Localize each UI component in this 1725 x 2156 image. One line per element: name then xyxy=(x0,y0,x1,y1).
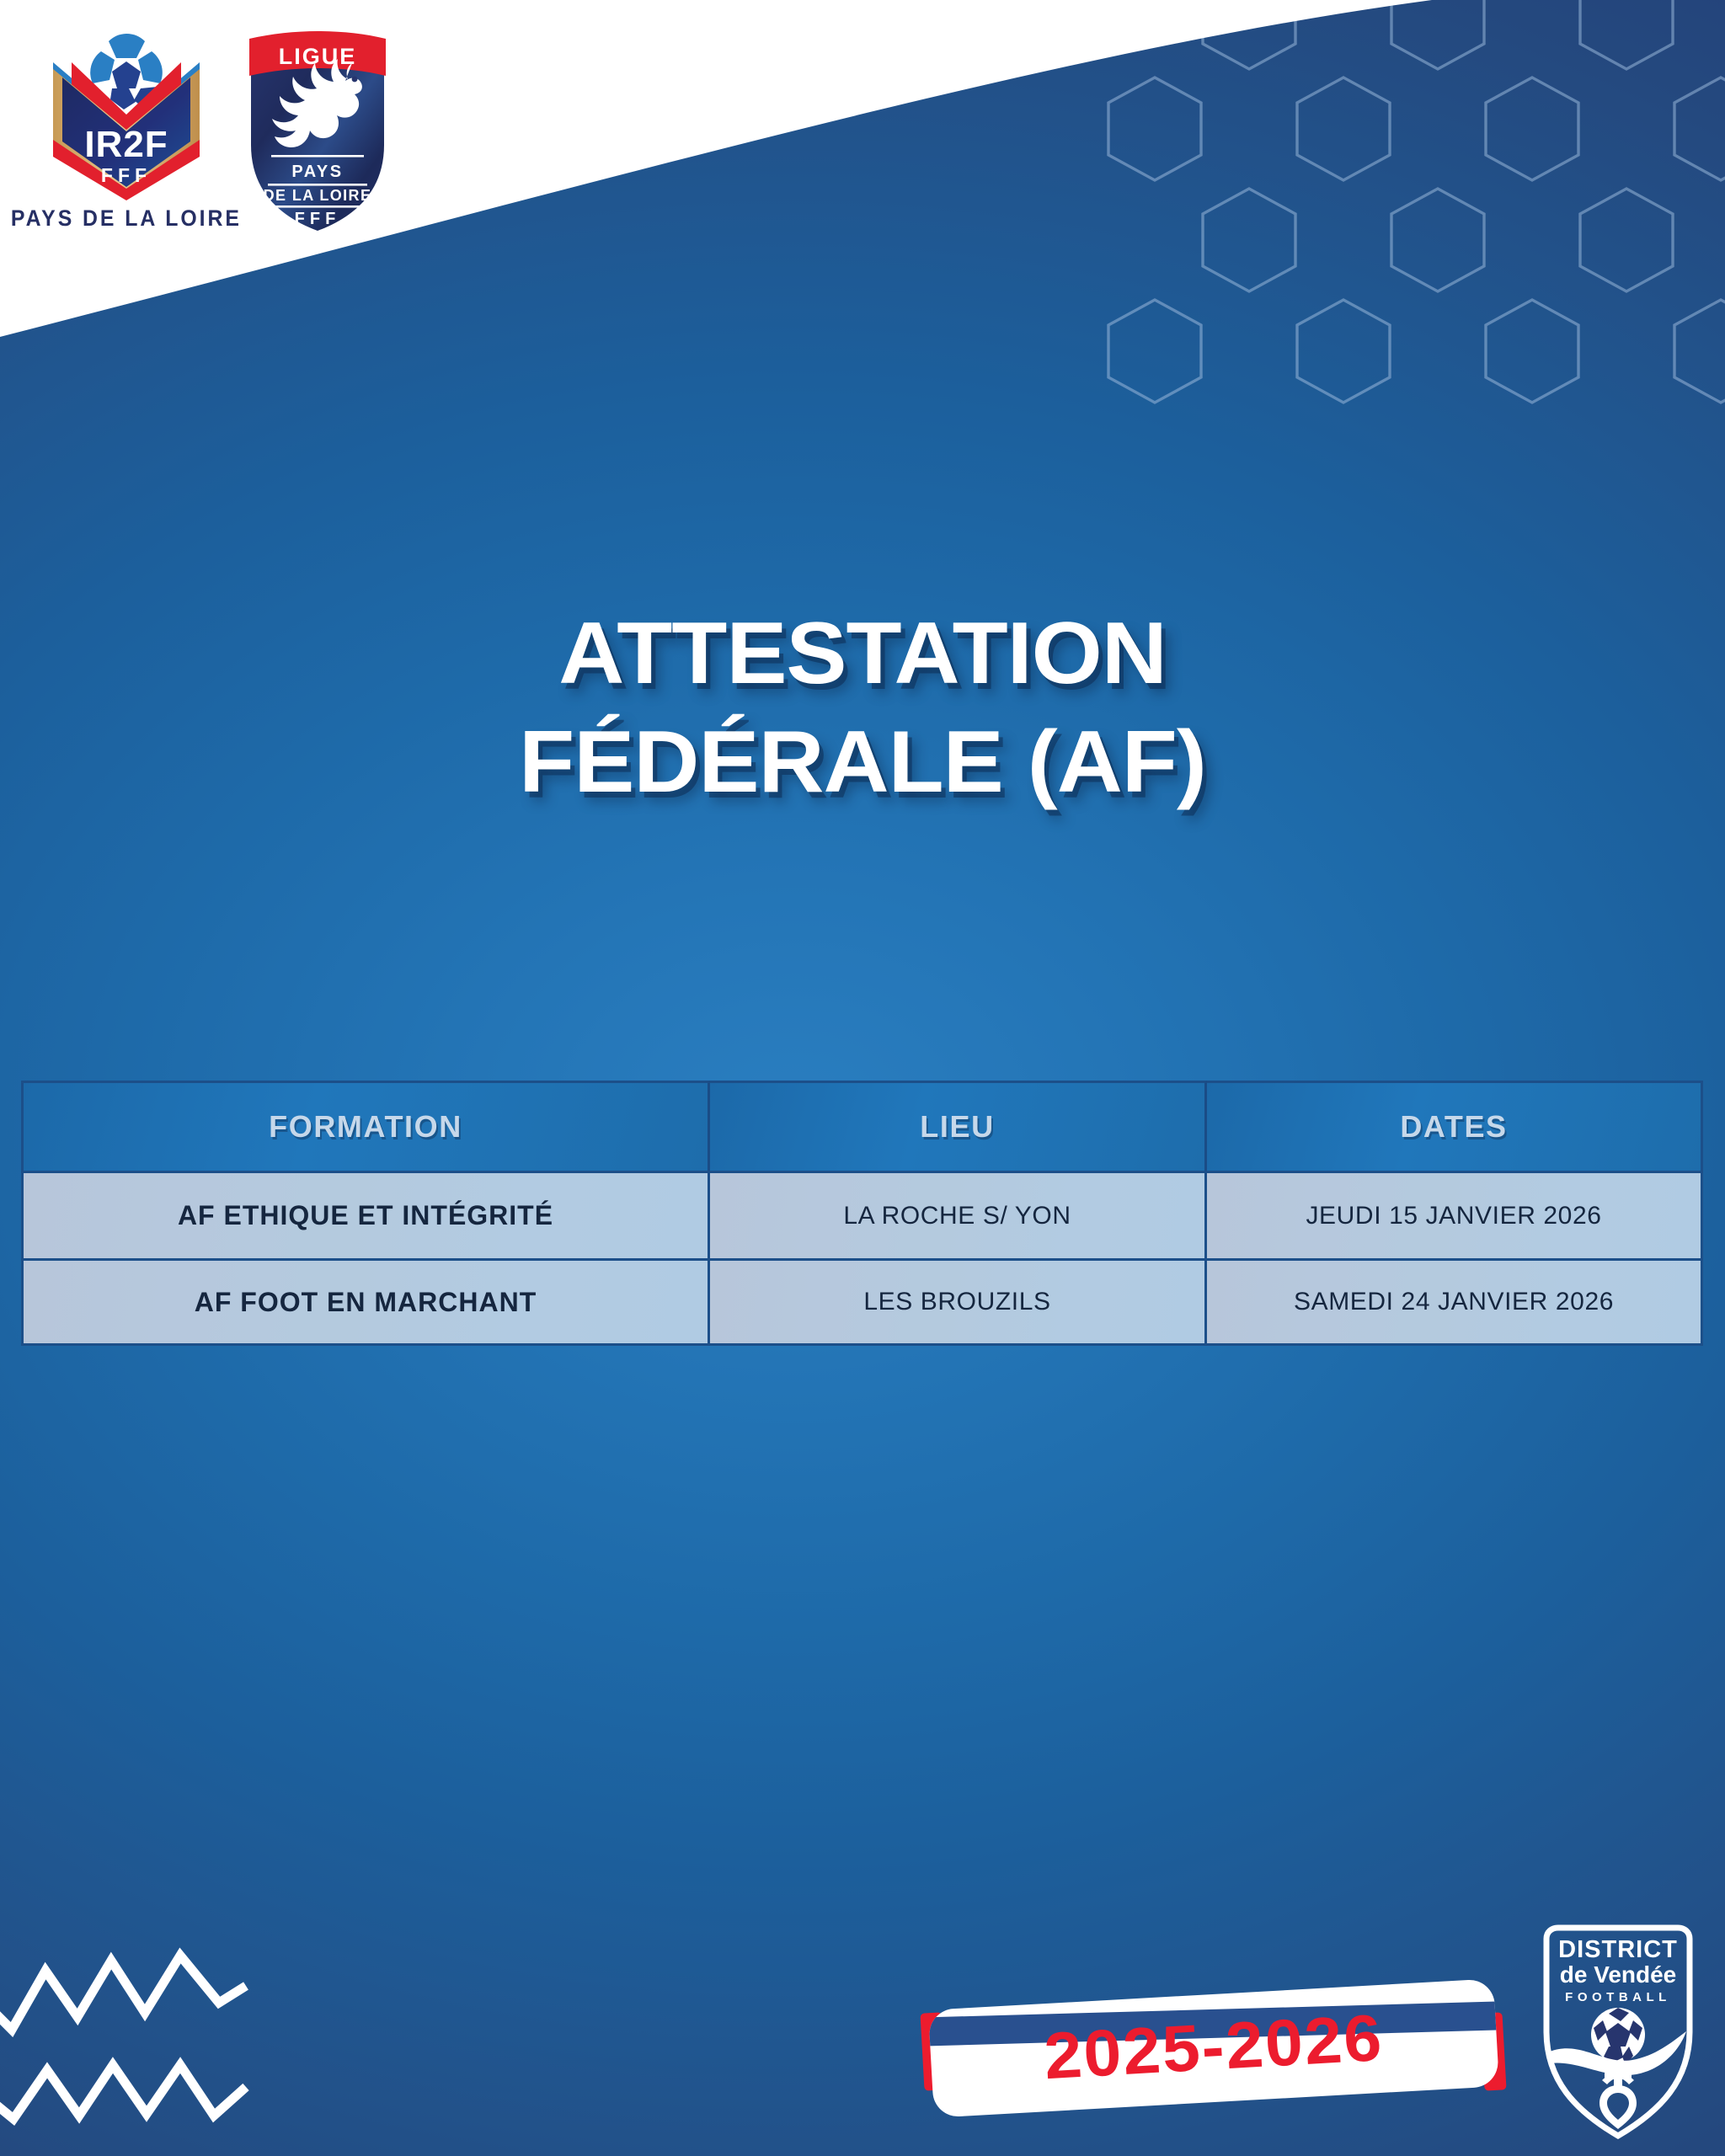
svg-text:FOOTBALL: FOOTBALL xyxy=(1565,1990,1671,2004)
cell-formation: AF ETHIQUE ET INTÉGRITÉ xyxy=(21,1171,710,1258)
table-row: AF ETHIQUE ET INTÉGRITÉ LA ROCHE S/ YON … xyxy=(21,1171,1703,1258)
formations-table: FORMATION LIEU DATES AF ETHIQUE ET INTÉG… xyxy=(21,1081,1703,1346)
cell-formation: AF FOOT EN MARCHANT xyxy=(21,1258,710,1346)
zigzag-decoration-icon xyxy=(0,1937,296,2148)
cell-dates: JEUDI 15 JANVIER 2026 xyxy=(1207,1171,1703,1258)
column-header-lieu: LIEU xyxy=(710,1081,1207,1171)
svg-text:PAYS: PAYS xyxy=(291,163,343,181)
svg-text:FFF: FFF xyxy=(101,164,152,186)
svg-text:DISTRICT: DISTRICT xyxy=(1558,1936,1678,1963)
district-de-vendee-logo: DISTRICT de Vendée FOOTBALL xyxy=(1521,1924,1715,2149)
poster-root: IR2F FFF PAYS DE LA LOIRE xyxy=(0,0,1725,2156)
svg-text:FFF: FFF xyxy=(295,210,341,228)
page-title-line-1: ATTESTATION xyxy=(0,600,1725,708)
season-badge-plate: 2025-2026 xyxy=(928,1978,1499,2117)
table-row: AF FOOT EN MARCHANT LES BROUZILS SAMEDI … xyxy=(21,1258,1703,1346)
header-logos: IR2F FFF PAYS DE LA LOIRE xyxy=(29,22,393,236)
ir2f-book-icon: IR2F FFF xyxy=(38,22,215,200)
svg-text:de Vendée: de Vendée xyxy=(1560,1961,1677,1988)
cell-dates: SAMEDI 24 JANVIER 2026 xyxy=(1207,1258,1703,1346)
table-header-row: FORMATION LIEU DATES xyxy=(21,1081,1703,1171)
season-badge: 2025-2026 xyxy=(931,1994,1503,2108)
ligue-logo: LIGUE PAYS DE LA LOIRE FFF xyxy=(243,22,393,236)
cell-lieu: LA ROCHE S/ YON xyxy=(710,1171,1207,1258)
ir2f-logo: IR2F FFF PAYS DE LA LOIRE xyxy=(29,22,224,232)
page-title: ATTESTATION FÉDÉRALE (AF) xyxy=(0,600,1725,817)
svg-text:DE LA LOIRE: DE LA LOIRE xyxy=(264,187,372,204)
column-header-dates: DATES xyxy=(1207,1081,1703,1171)
ir2f-caption: PAYS DE LA LOIRE xyxy=(11,205,242,232)
cell-lieu: LES BROUZILS xyxy=(710,1258,1207,1346)
district-shield-icon: DISTRICT de Vendée FOOTBALL xyxy=(1521,1924,1715,2149)
hexagon-pattern-icon xyxy=(1102,0,1725,438)
page-title-line-2: FÉDÉRALE (AF) xyxy=(0,708,1725,817)
season-badge-label: 2025-2026 xyxy=(928,1978,1499,2116)
svg-text:IR2F: IR2F xyxy=(84,124,168,165)
column-header-formation: FORMATION xyxy=(21,1081,710,1171)
svg-text:LIGUE: LIGUE xyxy=(279,44,357,69)
ligue-shield-icon: LIGUE PAYS DE LA LOIRE FFF xyxy=(243,27,393,236)
